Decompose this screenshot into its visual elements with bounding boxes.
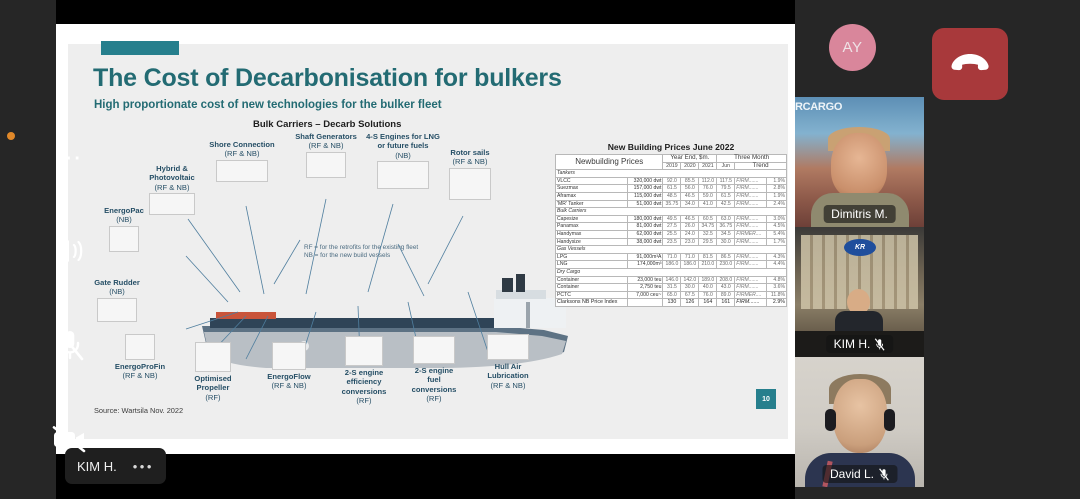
cell-2021: 81.5 <box>699 253 717 261</box>
thumbnail-optimised-propeller <box>195 342 231 372</box>
cell-2020: 126 <box>681 299 699 307</box>
cell-trend: FIRM....... <box>735 223 767 231</box>
decor-headset-left <box>825 409 836 431</box>
cell-2019: 130 <box>663 299 681 307</box>
thumbnail-2s-engine-efficiency <box>345 336 383 366</box>
group-label: Bulk Carriers <box>556 208 787 216</box>
cell-size <box>628 299 663 307</box>
background-logo-kr: KR <box>844 239 876 256</box>
cell-pct: 3.6% <box>767 284 787 292</box>
cell-jun: 79.5 <box>717 185 735 193</box>
diagram-heading: Bulk Carriers – Decarb Solutions <box>253 119 401 130</box>
slide-page-number: 10 <box>756 389 776 409</box>
cell-size: 23,000 teu <box>628 276 663 284</box>
camera-off-icon <box>51 425 89 453</box>
cell-size: 91,000m³A <box>628 253 663 261</box>
node-label: Shore Connection <box>190 140 294 149</box>
cell-2021: 189.0 <box>699 276 717 284</box>
cell-2019: 71.0 <box>663 253 681 261</box>
cell-size: 51,000 dwt <box>628 200 663 208</box>
cell-2019: 49.5 <box>663 215 681 223</box>
cell-name: Container <box>556 276 628 284</box>
cell-size: 81,000 dwt <box>628 223 663 231</box>
node-suffix: (RF) <box>328 396 400 405</box>
header-trend: Trend <box>735 162 787 170</box>
phone-hangup-icon <box>949 51 991 77</box>
cell-2021: 76.0 <box>699 291 717 299</box>
table-row: PCTC7,000 ceu~65.067.576.089.0FIRMER....… <box>556 291 787 299</box>
table-row: Handymax62,000 dwt25.524.032.534.5FIRMER… <box>556 230 787 238</box>
cell-2021: 112.0 <box>699 177 717 185</box>
cell-2020: 186.0 <box>681 261 699 269</box>
background-logo-rcargo: RCARGO <box>795 101 855 113</box>
cell-name: LPG <box>556 253 628 261</box>
self-view-cell[interactable]: AY <box>795 0 924 95</box>
cell-size: 180,000 dwt <box>628 215 663 223</box>
cell-name: PCTC <box>556 291 628 299</box>
speaker-button[interactable] <box>22 216 118 286</box>
cell-size: 2,750 teu <box>628 284 663 292</box>
microphone-muted-icon <box>874 338 885 351</box>
cell-name: Handysize <box>556 238 628 246</box>
header-year-end: Year End, $m. <box>663 155 717 163</box>
cell-name: Panamax <box>556 223 628 231</box>
table-row: VLCC320,000 dwt92.085.5112.0117.5FIRM...… <box>556 177 787 185</box>
table-row: Handysize38,000 dwt23.523.029.530.0FIRM.… <box>556 238 787 246</box>
decor-headset-right <box>884 409 895 431</box>
node-label: EnergoPac <box>86 206 162 215</box>
participant-tile-kim[interactable]: KR KIM H. <box>795 227 924 357</box>
cell-jun: 230.0 <box>717 261 735 269</box>
cell-2021: 29.5 <box>699 238 717 246</box>
cell-2021: 60.5 <box>699 215 717 223</box>
node-suffix: (RF & NB) <box>250 381 328 390</box>
node-suffix: (NB) <box>74 287 160 296</box>
microphone-button[interactable] <box>22 310 118 380</box>
node-label: Rotor sails <box>434 148 506 157</box>
table-row: Container23,000 teu146.0142.0189.0208.0F… <box>556 276 787 284</box>
cell-pct: 2.9% <box>767 299 787 307</box>
rf-nb-legend: RF = for the retrofits for the existing … <box>304 244 418 261</box>
slide-subtitle: High proportionate cost of new technolog… <box>94 99 442 111</box>
table-row: LNG174,000m³186.0186.0210.0230.0FIRM....… <box>556 261 787 269</box>
node-suffix: (RF & NB) <box>136 183 208 192</box>
cell-jun: 34.5 <box>717 230 735 238</box>
cell-name: Container <box>556 284 628 292</box>
cell-2020: 71.0 <box>681 253 699 261</box>
end-call-button[interactable] <box>932 28 1008 100</box>
cell-jun: 42.5 <box>717 200 735 208</box>
table-header-group-row: Newbuilding Prices Year End, $m. Three M… <box>556 155 787 163</box>
cell-2019: 186.0 <box>663 261 681 269</box>
node-label: Hull Air Lubrication <box>468 362 548 381</box>
thumbnail-shaft-generators <box>306 152 346 178</box>
cell-name: LNG <box>556 261 628 269</box>
cell-name: Suezmax <box>556 185 628 193</box>
node-suffix: (RF & NB) <box>190 149 294 158</box>
cell-2019: 35.75 <box>663 200 681 208</box>
cell-name: VLCC <box>556 177 628 185</box>
participant-name-chip: David L. <box>822 465 897 483</box>
cell-2020: 26.0 <box>681 223 699 231</box>
cell-2020: 34.0 <box>681 200 699 208</box>
slide-canvas: The Cost of Decarbonisation for bulkers … <box>68 44 788 439</box>
cell-2019: 25.5 <box>663 230 681 238</box>
cell-2019: 48.5 <box>663 192 681 200</box>
slide-title: The Cost of Decarbonisation for bulkers <box>93 64 562 93</box>
thumbnail-energoprofin <box>125 334 155 360</box>
cell-2021: 41.0 <box>699 200 717 208</box>
cell-pct: 4.8% <box>767 276 787 284</box>
table-group-row: Bulk Carriers <box>556 208 787 216</box>
group-label: Gas Vessels <box>556 246 787 254</box>
cell-size: 38,000 dwt <box>628 238 663 246</box>
cell-2021: 40.0 <box>699 284 717 292</box>
header-2021: 2021 <box>699 162 717 170</box>
cell-size: 157,000 dwt <box>628 185 663 193</box>
node-energoflow[interactable]: EnergoFlow (RF & NB) <box>250 342 328 391</box>
thumbnail-4s-engines-lng <box>377 161 429 189</box>
microphone-muted-icon <box>878 468 889 481</box>
cell-name: Aframax <box>556 192 628 200</box>
participant-name: KIM H. <box>834 337 871 351</box>
cell-2019: 61.5 <box>663 185 681 193</box>
cell-trend: FIRMER.... <box>735 291 767 299</box>
cell-name: Clarksons NB Price Index <box>556 299 628 307</box>
participant-name-chip: Dimitris M. <box>823 205 896 223</box>
cell-pct: 1.9% <box>767 192 787 200</box>
node-label: 2-S engine fuel conversions <box>398 366 470 394</box>
cell-pct: 1.7% <box>767 238 787 246</box>
cell-2020: 46.5 <box>681 192 699 200</box>
camera-button[interactable] <box>22 404 118 474</box>
node-suffix: (RF & NB) <box>468 381 548 390</box>
cell-2020: 56.0 <box>681 185 699 193</box>
node-optimised-propeller[interactable]: Optimised Propeller (RF) <box>180 342 246 402</box>
node-suffix: (RF) <box>398 394 470 403</box>
cell-jun: 30.0 <box>717 238 735 246</box>
header-jun: Jun <box>717 162 735 170</box>
table-row: LPG91,000m³A71.071.081.586.5FIRM.......4… <box>556 253 787 261</box>
thumbnail-2s-engine-fuel <box>413 336 455 364</box>
cell-pct: 4.3% <box>767 253 787 261</box>
cell-name: Handymax <box>556 230 628 238</box>
node-label: Optimised Propeller <box>180 374 246 393</box>
ellipsis-icon[interactable]: ••• <box>133 459 154 474</box>
speaker-on-icon <box>53 236 87 266</box>
header-three-month: Three Month <box>717 155 787 163</box>
table-row: Clarksons NB Price Index130126164161FIRM… <box>556 299 787 307</box>
table-row: Suezmax157,000 dwt61.556.076.079.5FIRM..… <box>556 185 787 193</box>
node-label: 2-S engine efficiency conversions <box>328 368 400 396</box>
decor-head <box>831 133 887 199</box>
cell-jun: 36.75 <box>717 223 735 231</box>
cell-jun: 43.0 <box>717 284 735 292</box>
cell-2019: 146.0 <box>663 276 681 284</box>
cell-pct: 2.8% <box>767 185 787 193</box>
table-group-row: Gas Vessels <box>556 246 787 254</box>
cell-size: 174,000m³ <box>628 261 663 269</box>
cell-jun: 61.5 <box>717 192 735 200</box>
thumbnail-hull-air-lubrication <box>487 334 529 360</box>
header-newbuilding-prices: Newbuilding Prices <box>556 155 663 170</box>
cell-trend: FIRMER.... <box>735 230 767 238</box>
cell-pct: 4.5% <box>767 223 787 231</box>
group-label: Dry Cargo <box>556 268 787 276</box>
participant-tile-david[interactable]: David L. <box>795 357 924 487</box>
cell-name: 'MR' Tanker <box>556 200 628 208</box>
cell-jun: 89.0 <box>717 291 735 299</box>
cell-2021: 76.0 <box>699 185 717 193</box>
thumbnail-rotor-sails <box>449 168 491 200</box>
cell-2019: 92.0 <box>663 177 681 185</box>
cell-trend: FIRM....... <box>735 299 767 307</box>
group-label: Tankers <box>556 170 787 178</box>
cell-size: 7,000 ceu~ <box>628 291 663 299</box>
newbuilding-prices-table: Newbuilding Prices Year End, $m. Three M… <box>555 154 787 307</box>
participant-name-chip: KIM H. <box>826 335 894 353</box>
cell-trend: FIRM....... <box>735 284 767 292</box>
cell-trend: FIRM....... <box>735 215 767 223</box>
node-2s-engine-efficiency[interactable]: 2-S engine efficiency conversions (RF) <box>328 336 400 406</box>
cell-trend: FIRM....... <box>735 192 767 200</box>
cell-pct: 5.4% <box>767 230 787 238</box>
cell-trend: FIRM....... <box>735 276 767 284</box>
cell-jun: 63.0 <box>717 215 735 223</box>
cell-2021: 59.0 <box>699 192 717 200</box>
cell-2019: 23.5 <box>663 238 681 246</box>
cell-pct: 3.0% <box>767 215 787 223</box>
avatar[interactable]: AY <box>829 24 876 71</box>
node-2s-engine-fuel[interactable]: 2-S engine fuel conversions (RF) <box>398 336 470 404</box>
participants-column: AY RCARGO Dimitris M. KR KIM H. <box>795 0 924 499</box>
cell-2019: 31.5 <box>663 284 681 292</box>
header-2019: 2019 <box>663 162 681 170</box>
cell-2020: 67.5 <box>681 291 699 299</box>
cell-pct: 11.8% <box>767 291 787 299</box>
cell-2021: 210.0 <box>699 261 717 269</box>
table-row: Capesize180,000 dwt49.546.560.563.0FIRM.… <box>556 215 787 223</box>
table-title: New Building Prices June 2022 <box>555 142 787 152</box>
microphone-muted-icon <box>54 328 86 362</box>
cell-name: Capesize <box>556 215 628 223</box>
node-suffix: (RF & NB) <box>434 157 506 166</box>
cell-pct: 1.9% <box>767 177 787 185</box>
presentation-slide[interactable]: The Cost of Decarbonisation for bulkers … <box>56 24 800 454</box>
table-row: Container2,750 teu31.530.040.043.0FIRM..… <box>556 284 787 292</box>
table-body: TankersVLCC320,000 dwt92.085.5112.0117.5… <box>556 170 787 307</box>
cell-2020: 85.5 <box>681 177 699 185</box>
cell-size: 320,000 dwt <box>628 177 663 185</box>
cell-2020: 142.0 <box>681 276 699 284</box>
cell-trend: FIRM....... <box>735 200 767 208</box>
participant-name: Dimitris M. <box>831 207 888 221</box>
cell-pct: 4.4% <box>767 261 787 269</box>
recording-indicator-dot <box>7 132 15 140</box>
table-row: Panamax81,000 dwt27.526.034.7536.75FIRM.… <box>556 223 787 231</box>
cell-jun: 86.5 <box>717 253 735 261</box>
screen-share-stage[interactable]: The Cost of Decarbonisation for bulkers … <box>0 0 800 499</box>
participant-name: David L. <box>830 467 874 481</box>
node-suffix: (RF) <box>180 393 246 402</box>
cell-2020: 46.5 <box>681 215 699 223</box>
cell-2019: 27.5 <box>663 223 681 231</box>
cell-2020: 23.0 <box>681 238 699 246</box>
node-shore-connection[interactable]: Shore Connection (RF & NB) <box>190 140 294 182</box>
slide-accent-bar <box>101 41 179 55</box>
cell-2021: 32.5 <box>699 230 717 238</box>
cell-2020: 30.0 <box>681 284 699 292</box>
table-group-row: Tankers <box>556 170 787 178</box>
node-label: EnergoFlow <box>250 372 328 381</box>
node-rotor-sails[interactable]: Rotor sails (RF & NB) <box>434 148 506 200</box>
table-group-row: Dry Cargo <box>556 268 787 276</box>
cell-size: 62,000 dwt <box>628 230 663 238</box>
cell-2019: 65.0 <box>663 291 681 299</box>
cell-jun: 161 <box>717 299 735 307</box>
header-2020: 2020 <box>681 162 699 170</box>
cell-pct: 2.4% <box>767 200 787 208</box>
cell-size: 115,000 dwt <box>628 192 663 200</box>
decor-head <box>833 379 887 453</box>
newbuilding-prices-table-wrap: New Building Prices June 2022 Newbuildin… <box>555 142 787 307</box>
thumbnail-energoflow <box>272 342 306 370</box>
table-row: Aframax115,000 dwt48.546.559.061.5FIRM..… <box>556 192 787 200</box>
more-options-button[interactable]: ⋯ <box>22 122 118 192</box>
cell-jun: 208.0 <box>717 276 735 284</box>
cell-2021: 164 <box>699 299 717 307</box>
cell-2021: 34.75 <box>699 223 717 231</box>
ellipsis-icon: ⋯ <box>56 152 85 162</box>
cell-trend: FIRM....... <box>735 253 767 261</box>
cell-jun: 117.5 <box>717 177 735 185</box>
thumbnail-shore-connection <box>216 160 268 182</box>
table-row: 'MR' Tanker51,000 dwt35.7534.041.042.5FI… <box>556 200 787 208</box>
cell-trend: FIRM....... <box>735 185 767 193</box>
node-hull-air-lubrication[interactable]: Hull Air Lubrication (RF & NB) <box>468 334 548 390</box>
cell-2020: 24.0 <box>681 230 699 238</box>
cell-trend: FIRM....... <box>735 177 767 185</box>
participant-tile-dimitris[interactable]: RCARGO Dimitris M. <box>795 97 924 227</box>
cell-trend: FIRM....... <box>735 261 767 269</box>
cell-trend: FIRM....... <box>735 238 767 246</box>
